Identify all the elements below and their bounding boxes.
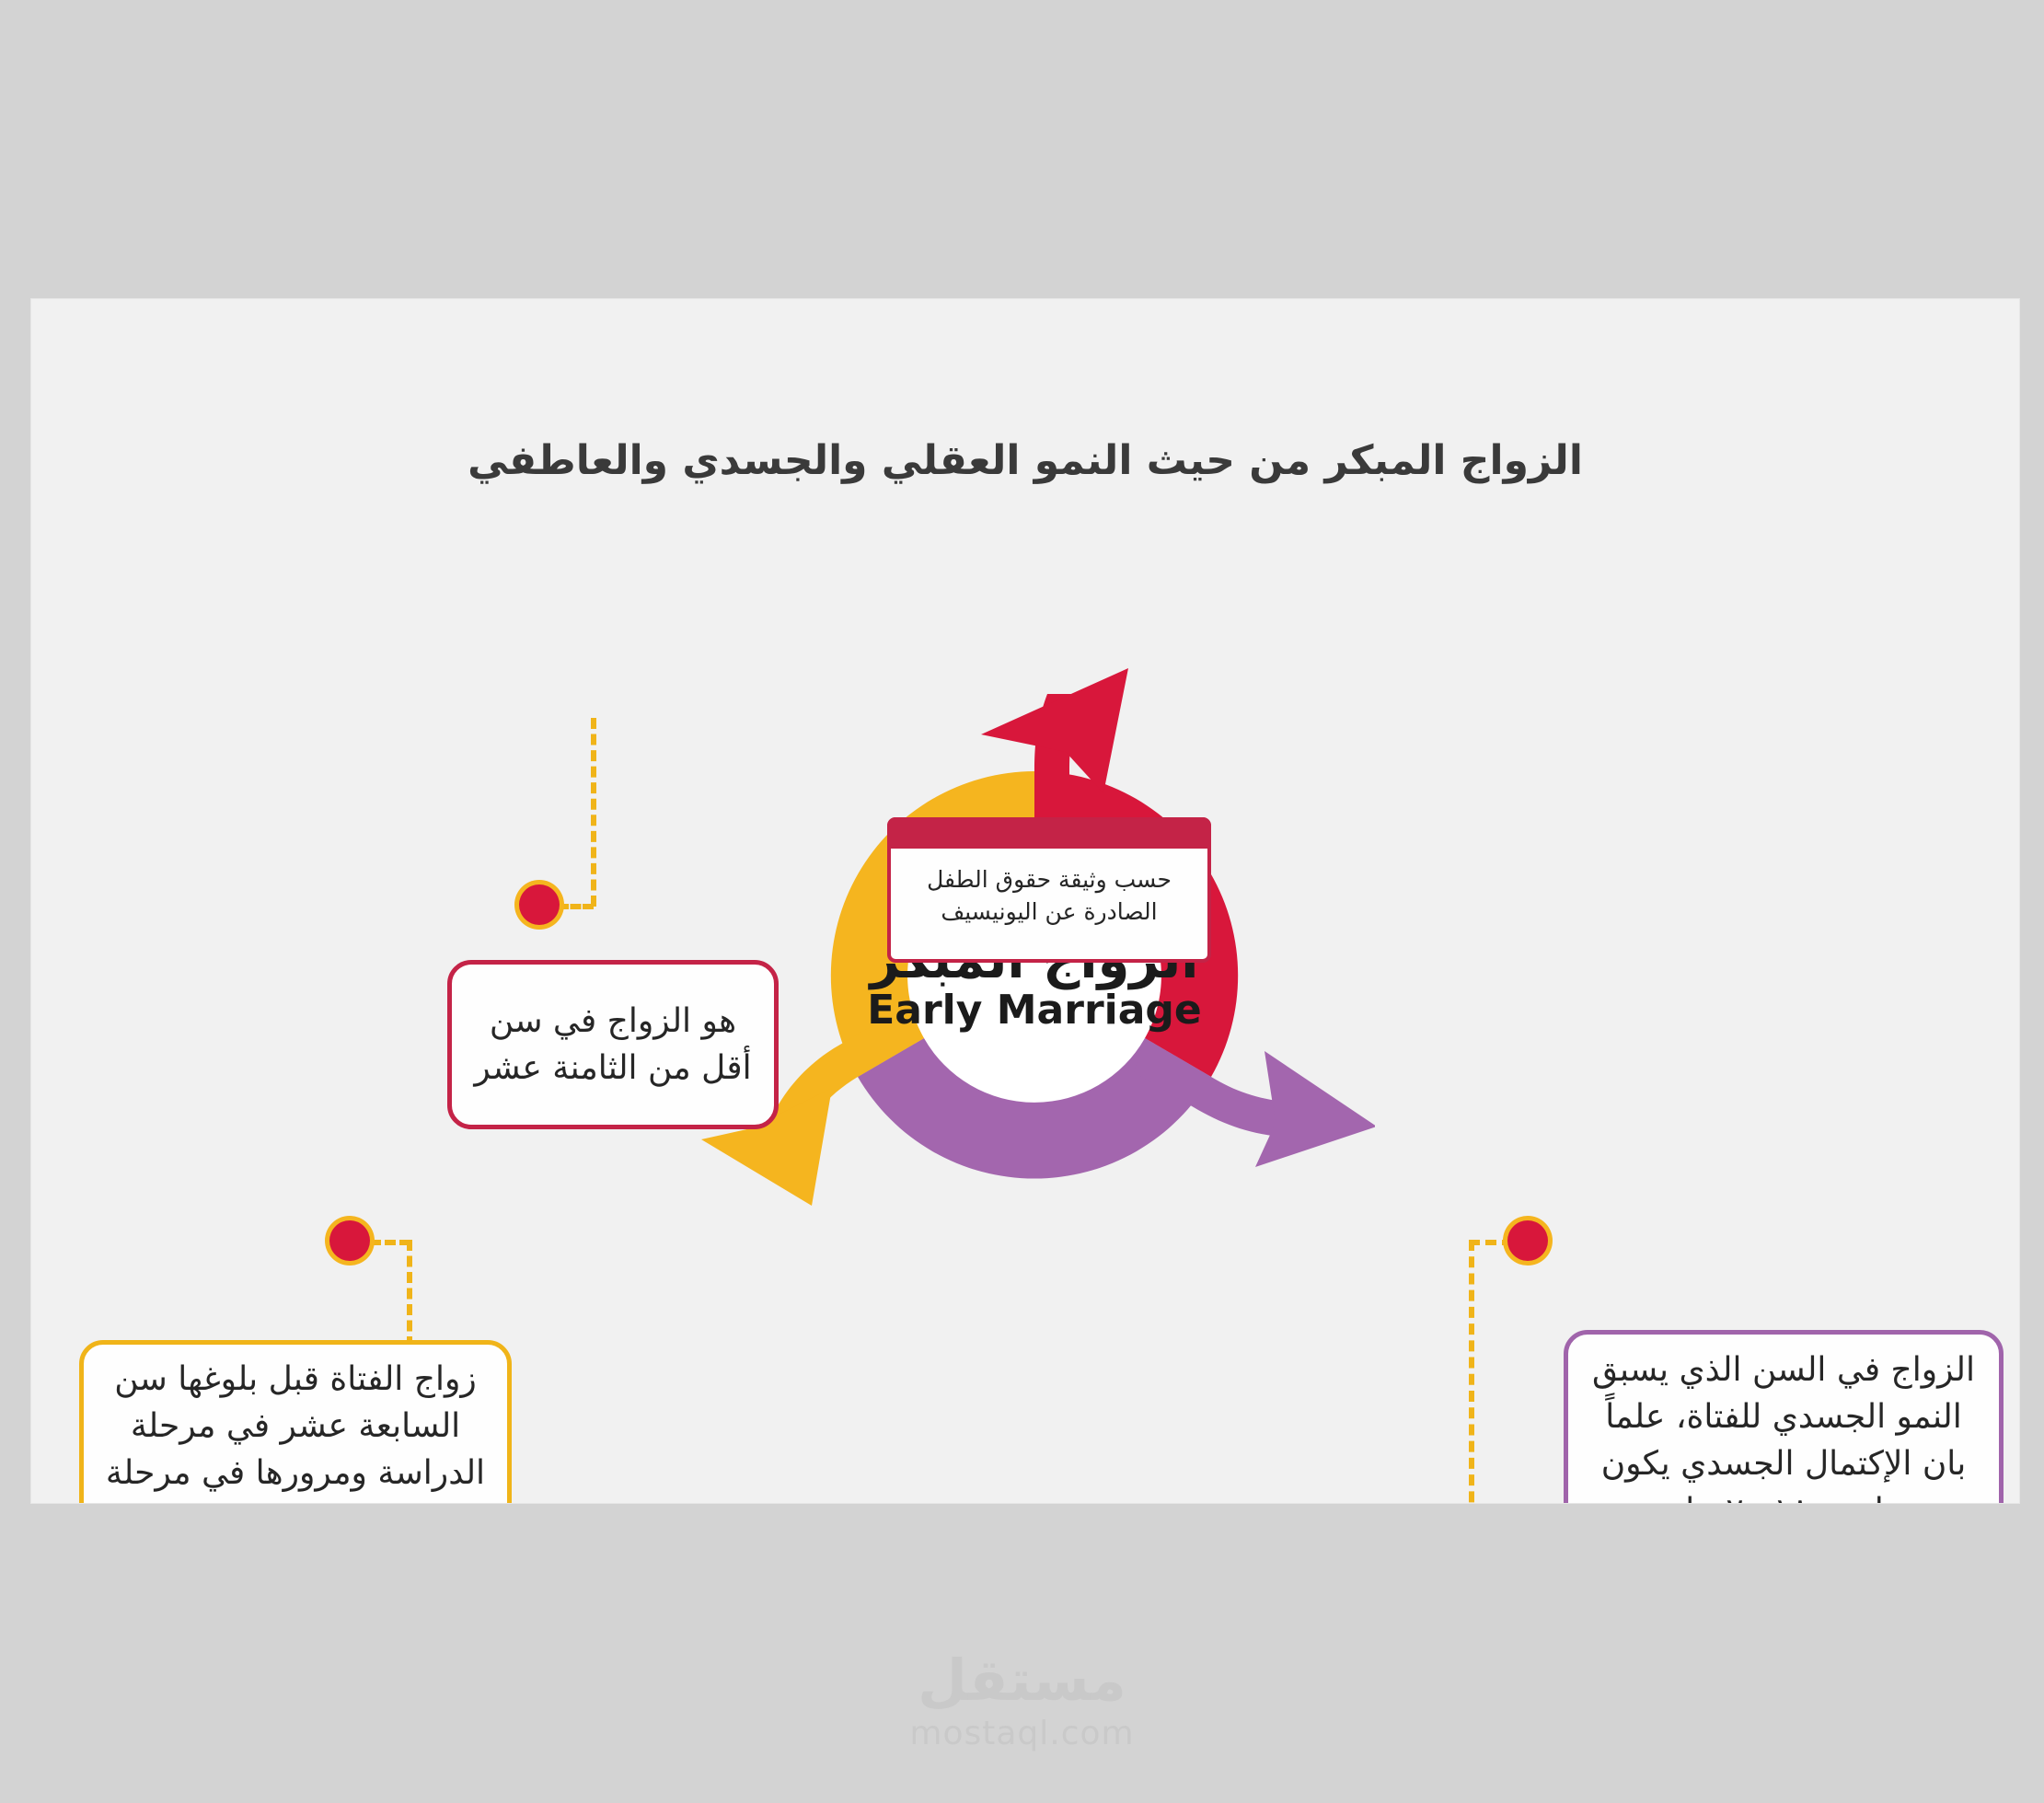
definition-box-under-eighteen-text: هو الزواج في سن أقل من الثامنة عشر bbox=[472, 998, 754, 1092]
connector-line-left-horizontal bbox=[370, 1240, 410, 1245]
connector-line-right bbox=[1469, 1240, 1474, 1503]
definition-box-physical-growth-text: الزواج في السن الذي يسبق النمو الجسدي لل… bbox=[1588, 1346, 1979, 1503]
definition-box-under-eighteen[interactable]: هو الزواج في سن أقل من الثامنة عشر bbox=[447, 960, 779, 1129]
mostaql-watermark: مستقل mostaql.com bbox=[0, 1652, 2044, 1752]
connector-line-top bbox=[591, 718, 596, 907]
definition-box-under-seventeen[interactable]: زواج الفتاة قبل بلوغها سن السابعة عشر في… bbox=[79, 1340, 512, 1503]
connector-dot-right bbox=[1507, 1220, 1548, 1261]
watermark-latin: mostaql.com bbox=[0, 1715, 2044, 1752]
connector-dot-left bbox=[329, 1220, 370, 1261]
definition-box-physical-growth[interactable]: الزواج في السن الذي يسبق النمو الجسدي لل… bbox=[1564, 1330, 2004, 1503]
connector-line-top-horizontal bbox=[558, 904, 594, 909]
infographic-canvas: الزواج المبكر من حيث النمو العقلي والجسد… bbox=[31, 299, 2019, 1503]
source-box-unicef[interactable]: حسب وثيقة حقوق الطفل الصادرة عن اليونيسي… bbox=[887, 817, 1211, 963]
cycle-diagram: الزواج المبكر Early Marriage bbox=[694, 635, 1375, 1316]
connector-dot-top-left bbox=[519, 884, 560, 925]
definition-box-under-seventeen-text: زواج الفتاة قبل بلوغها سن السابعة عشر في… bbox=[104, 1356, 487, 1503]
watermark-arabic: مستقل bbox=[0, 1652, 2044, 1709]
source-box-unicef-text: حسب وثيقة حقوق الطفل الصادرة عن اليونيسي… bbox=[906, 863, 1193, 929]
page-title: الزواج المبكر من حيث النمو العقلي والجسد… bbox=[31, 437, 2019, 484]
connector-line-right-horizontal bbox=[1469, 1240, 1513, 1245]
